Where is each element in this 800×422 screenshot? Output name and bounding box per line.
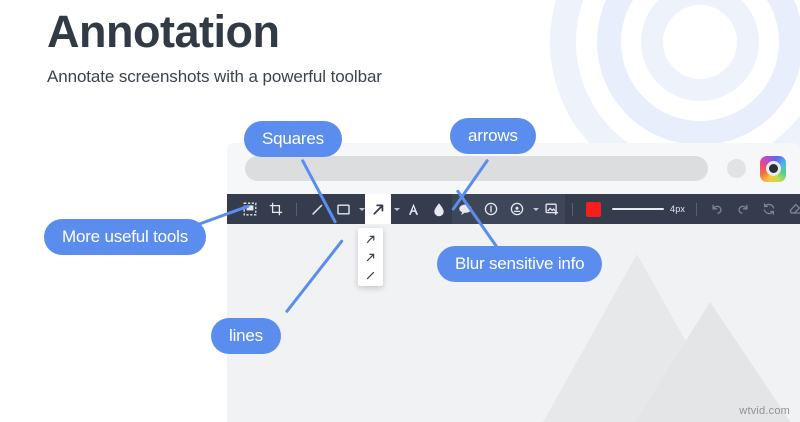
decorative-ring-middle bbox=[597, 0, 800, 145]
watermark: wtvid.com bbox=[739, 405, 790, 417]
page-subtitle: Annotate screenshots with a powerful too… bbox=[47, 67, 382, 87]
page-title: Annotation bbox=[47, 6, 382, 58]
profile-avatar[interactable] bbox=[727, 159, 746, 178]
sticker-tool[interactable] bbox=[504, 194, 530, 224]
callout-lines[interactable]: lines bbox=[211, 318, 281, 354]
callout-more-tools-label: More useful tools bbox=[62, 227, 188, 247]
callout-more-tools[interactable]: More useful tools bbox=[44, 219, 206, 255]
insert-image-tool[interactable] bbox=[539, 194, 565, 224]
arrow-style-dropdown[interactable] bbox=[358, 228, 383, 286]
callout-arrows-label: arrows bbox=[468, 126, 518, 146]
arrow-style-straight[interactable] bbox=[358, 248, 383, 266]
toolbar-separator bbox=[296, 203, 297, 216]
undo-button[interactable] bbox=[704, 194, 730, 224]
callout-blur[interactable]: Blur sensitive info bbox=[437, 246, 602, 282]
toolbar-separator bbox=[572, 203, 573, 216]
arrow-style-line[interactable] bbox=[358, 266, 383, 284]
decorative-ring-inner bbox=[641, 0, 759, 101]
toolbar-separator bbox=[696, 203, 697, 216]
stroke-color-swatch[interactable] bbox=[580, 194, 606, 224]
header-block: Annotation Annotate screenshots with a p… bbox=[47, 6, 382, 87]
stroke-width-control[interactable]: 4px bbox=[612, 204, 685, 214]
crop-tool[interactable] bbox=[263, 194, 289, 224]
annotation-toolbar: 4px bbox=[227, 194, 800, 224]
text-tool[interactable] bbox=[400, 194, 426, 224]
blur-tool[interactable] bbox=[426, 194, 452, 224]
stroke-width-label: 4px bbox=[670, 204, 685, 214]
reset-button[interactable] bbox=[756, 194, 782, 224]
redo-button[interactable] bbox=[730, 194, 756, 224]
callout-lines-label: lines bbox=[229, 326, 263, 346]
step-counter-tool[interactable] bbox=[478, 194, 504, 224]
callout-squares-label: Squares bbox=[262, 129, 324, 149]
arrow-tool[interactable] bbox=[365, 194, 391, 224]
callout-squares[interactable]: Squares bbox=[244, 121, 342, 157]
erase-all-button[interactable] bbox=[782, 194, 800, 224]
callout-blur-label: Blur sensitive info bbox=[455, 254, 584, 274]
stroke-width-preview bbox=[612, 208, 664, 210]
poster-canvas: Annotation Annotate screenshots with a p… bbox=[0, 0, 800, 422]
callout-arrows[interactable]: arrows bbox=[450, 118, 536, 154]
camera-app-icon[interactable] bbox=[760, 156, 786, 182]
arrow-style-curved[interactable] bbox=[358, 230, 383, 248]
